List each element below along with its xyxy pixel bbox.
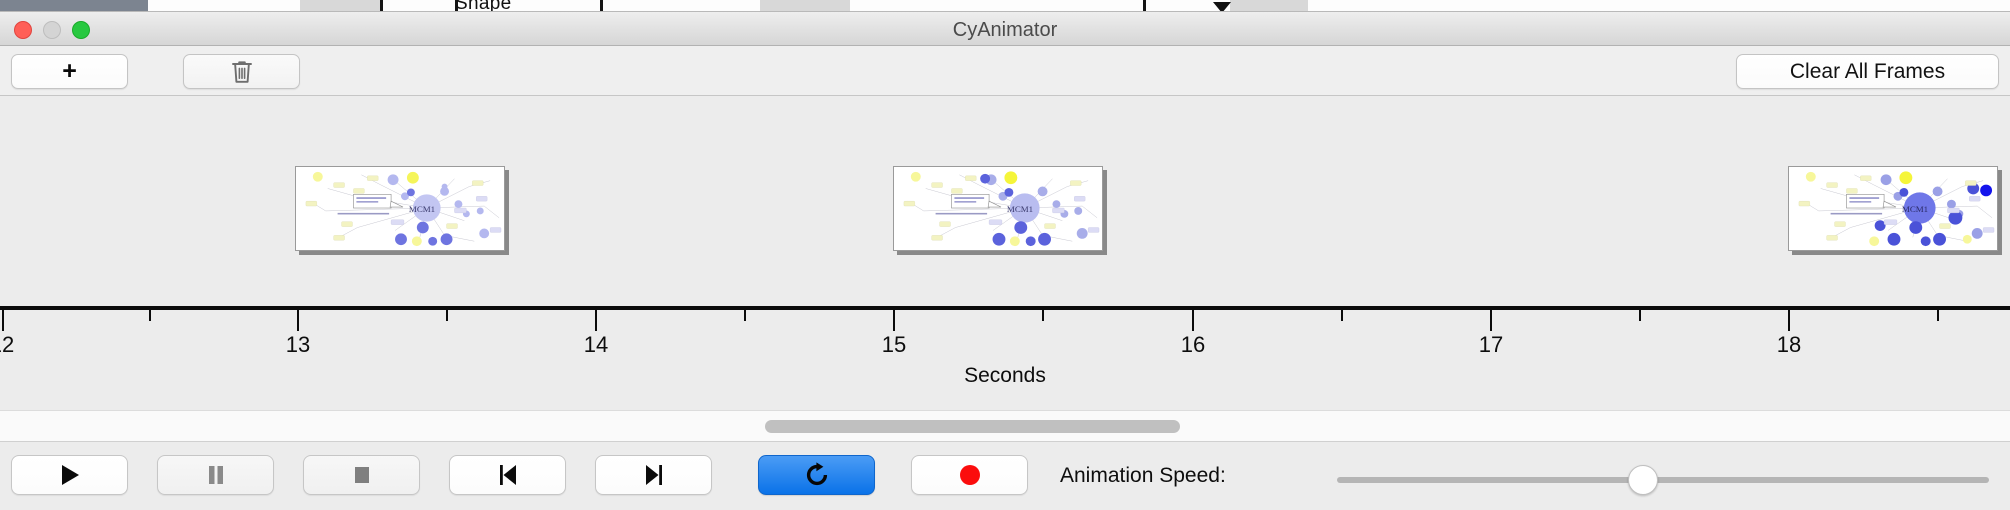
axis-tick-minor [1937, 310, 1939, 321]
svg-text:MCM1: MCM1 [1007, 204, 1033, 214]
timeline-scrollbar[interactable] [0, 410, 2010, 442]
slider-thumb[interactable] [1628, 465, 1658, 495]
loop-button[interactable] [758, 455, 875, 495]
slider-track[interactable] [1337, 477, 1989, 483]
axis-line [0, 306, 2010, 310]
cyanimator-window: Shape CyAnimator + Clear All Frames [0, 0, 2010, 510]
timeline-panel[interactable]: MCM1 [0, 96, 2010, 312]
skip-back-icon [497, 463, 519, 487]
background-cursor-icon [1213, 2, 1231, 12]
axis-tick-minor [1042, 310, 1044, 321]
frame-thumbnail-3[interactable]: MCM1 [1788, 166, 1998, 251]
stop-button[interactable] [303, 455, 420, 495]
axis-tick-minor [744, 310, 746, 321]
svg-text:MCM1: MCM1 [409, 204, 435, 214]
axis-tick-major [1490, 310, 1492, 331]
window-title: CyAnimator [0, 19, 2010, 42]
record-icon [958, 463, 982, 487]
animation-speed-label: Animation Speed: [1060, 464, 1226, 488]
axis-tick-major [595, 310, 597, 331]
add-frame-button[interactable]: + [11, 54, 128, 89]
svg-text:MCM1: MCM1 [1902, 204, 1928, 214]
frame-thumbnail-2[interactable]: MCM1 [893, 166, 1103, 251]
axis-tick-label: 15 [882, 332, 906, 358]
axis-tick-label: 16 [1181, 332, 1205, 358]
axis-tick-label: 18 [1777, 332, 1801, 358]
axis-tick-minor [149, 310, 151, 321]
axis-tick-label: 14 [584, 332, 608, 358]
loop-icon [804, 462, 830, 488]
pause-button[interactable] [157, 455, 274, 495]
axis-tick-minor [446, 310, 448, 321]
delete-frame-button[interactable] [183, 54, 300, 89]
pause-icon [205, 463, 227, 487]
timeline-axis: 12 13 14 15 16 17 18 Seconds [0, 306, 2010, 410]
playback-controls: Animation Speed: [0, 442, 2010, 510]
axis-tick-major [1788, 310, 1790, 331]
axis-tick-minor [1341, 310, 1343, 321]
play-button[interactable] [11, 455, 128, 495]
frame-thumbnail-1[interactable]: MCM1 [295, 166, 505, 251]
title-bar: CyAnimator [0, 12, 2010, 46]
skip-to-start-button[interactable] [449, 455, 566, 495]
background-window-label: Shape [455, 0, 511, 12]
stop-icon [351, 463, 373, 487]
axis-tick-major [2, 310, 4, 331]
skip-forward-icon [643, 463, 665, 487]
record-button[interactable] [911, 455, 1028, 495]
axis-tick-label: 13 [286, 332, 310, 358]
clear-all-frames-button[interactable]: Clear All Frames [1736, 54, 1999, 89]
clear-all-frames-label: Clear All Frames [1790, 60, 1945, 84]
animation-speed-slider[interactable] [1337, 477, 1989, 483]
scrollbar-thumb[interactable] [765, 420, 1180, 433]
toolbar: + Clear All Frames [0, 46, 2010, 96]
trash-icon [230, 59, 254, 85]
axis-title: Seconds [0, 364, 2010, 388]
axis-tick-major [893, 310, 895, 331]
plus-icon: + [62, 59, 77, 84]
background-window-strip: Shape [0, 0, 2010, 12]
axis-tick-label: 17 [1479, 332, 1503, 358]
axis-tick-minor [1639, 310, 1641, 321]
axis-tick-label: 12 [0, 332, 14, 358]
play-icon [59, 463, 81, 487]
axis-tick-major [297, 310, 299, 331]
axis-tick-major [1192, 310, 1194, 331]
skip-to-end-button[interactable] [595, 455, 712, 495]
